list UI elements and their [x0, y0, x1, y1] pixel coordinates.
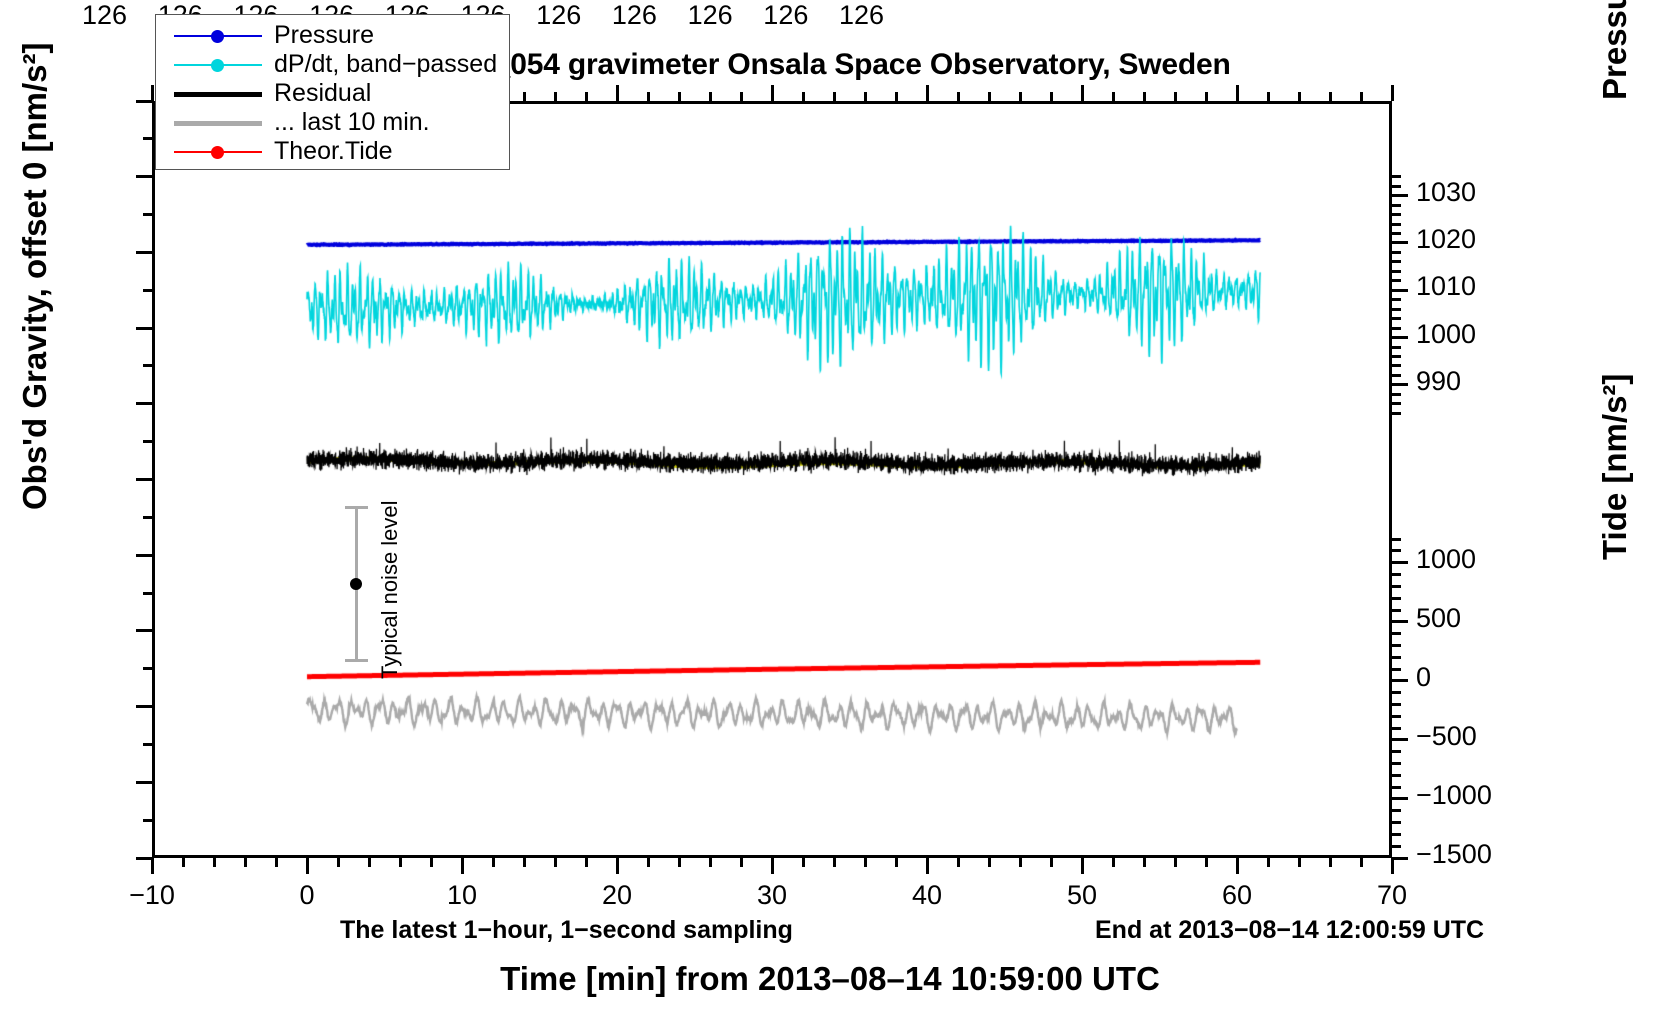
- noise-bar-cap-bottom: [345, 659, 368, 662]
- x-tick: [1329, 858, 1332, 867]
- x-tick-top: [740, 92, 743, 101]
- y-tick: [136, 402, 152, 405]
- y-tick-label: 126: [612, 0, 657, 31]
- y-tick-label: 126: [536, 0, 581, 31]
- x-tick: [1019, 858, 1022, 867]
- x-tick: [1360, 858, 1363, 867]
- tide-tick-label: 500: [1416, 603, 1461, 634]
- pressure-tick: [1392, 374, 1401, 377]
- x-tick: [1112, 858, 1115, 867]
- x-tick: [833, 858, 836, 867]
- tide-tick: [1392, 750, 1401, 753]
- x-tick: [492, 858, 495, 867]
- x-tick: [244, 858, 247, 867]
- x-tick: [585, 858, 588, 867]
- tide-tick: [1392, 561, 1408, 564]
- x-tick: [988, 858, 991, 867]
- y-tick: [136, 781, 152, 784]
- x-tick-label: 60: [1197, 880, 1277, 911]
- y-tick-label: 126: [839, 0, 884, 31]
- pressure-tick: [1392, 270, 1401, 273]
- x-tick-top: [1143, 92, 1146, 101]
- y-tick: [143, 289, 152, 292]
- x-tick-label: 10: [422, 880, 502, 911]
- y-tick: [143, 592, 152, 595]
- y-tick: [143, 440, 152, 443]
- x-tick-top: [554, 92, 557, 101]
- x-tick: [647, 858, 650, 867]
- pressure-tick: [1392, 241, 1408, 244]
- x-tick-top: [1391, 85, 1394, 101]
- legend-item-1[interactable]: dP/dt, band−passed: [156, 50, 509, 79]
- legend-label: Theor.Tide: [274, 137, 393, 166]
- x-tick: [616, 858, 619, 874]
- x-tick: [368, 858, 371, 867]
- y-axis-left-title-wrap: Obs'd Gravity, offset 0 [nm/s²]: [22, 0, 72, 1020]
- legend-line-icon: [174, 92, 262, 97]
- pressure-tick: [1392, 232, 1401, 235]
- tide-tick: [1392, 632, 1401, 635]
- x-tick-top: [709, 92, 712, 101]
- pressure-tick: [1392, 260, 1401, 263]
- x-tick: [337, 858, 340, 867]
- tide-tick: [1392, 585, 1401, 588]
- x-tick-top: [1236, 85, 1239, 101]
- y-tick: [136, 327, 152, 330]
- y-tick: [143, 819, 152, 822]
- pressure-tick-label: 1000: [1416, 319, 1476, 350]
- x-tick-top: [647, 92, 650, 101]
- y-tick: [136, 705, 152, 708]
- x-tick: [182, 858, 185, 867]
- tide-tick: [1392, 845, 1401, 848]
- x-tick-label: 20: [577, 880, 657, 911]
- x-tick-top: [1112, 92, 1115, 101]
- x-tick: [306, 858, 309, 874]
- tide-tick: [1392, 538, 1401, 541]
- typical-noise-bar: [343, 506, 369, 662]
- x-tick-top: [1205, 92, 1208, 101]
- pressure-tick: [1392, 223, 1401, 226]
- pressure-tick: [1392, 308, 1401, 311]
- x-tick-top: [771, 85, 774, 101]
- pressure-tick: [1392, 412, 1401, 415]
- x-tick: [771, 858, 774, 874]
- tide-tick: [1392, 620, 1408, 623]
- x-tick: [1391, 858, 1394, 874]
- x-tick-top: [833, 92, 836, 101]
- x-tick: [740, 858, 743, 867]
- y-tick: [136, 175, 152, 178]
- x-tick-top: [523, 92, 526, 101]
- tide-tick: [1392, 797, 1408, 800]
- pressure-tick: [1392, 364, 1401, 367]
- x-tick-top: [1360, 92, 1363, 101]
- x-tick: [864, 858, 867, 867]
- y-axis-pressure-title: Pressure [hPa]: [1596, 0, 1634, 100]
- x-tick-top: [616, 85, 619, 101]
- x-tick-top: [1329, 92, 1332, 101]
- x-tick-label: −10: [112, 880, 192, 911]
- y-tick: [143, 743, 152, 746]
- pressure-tick: [1392, 383, 1408, 386]
- y-tick-label: 126: [82, 0, 127, 31]
- tide-tick: [1392, 656, 1401, 659]
- x-tick-top: [926, 85, 929, 101]
- x-tick-top: [1019, 92, 1022, 101]
- pressure-tick: [1392, 251, 1401, 254]
- tide-tick: [1392, 573, 1401, 576]
- pressure-tick-label: 1030: [1416, 177, 1476, 208]
- x-tick-top: [1081, 85, 1084, 101]
- x-tick-top: [988, 92, 991, 101]
- x-tick: [957, 858, 960, 867]
- legend-item-3[interactable]: ... last 10 min.: [156, 108, 509, 137]
- tide-tick: [1392, 738, 1408, 741]
- x-tick-top: [895, 92, 898, 101]
- x-tick: [1174, 858, 1177, 867]
- x-tick: [430, 858, 433, 867]
- pressure-tick-label: 990: [1416, 366, 1461, 397]
- x-tick: [1081, 858, 1084, 874]
- pressure-tick: [1392, 346, 1401, 349]
- x-axis-title: Time [min] from 2013–08–14 10:59:00 UTC: [0, 960, 1660, 998]
- plot-canvas-wrapper: [155, 104, 1389, 855]
- x-tick-label: 40: [887, 880, 967, 911]
- x-tick: [1050, 858, 1053, 867]
- y-tick-label: 126: [688, 0, 733, 31]
- pressure-tick: [1392, 213, 1401, 216]
- tide-tick: [1392, 762, 1401, 765]
- y-axis-tide-title: Tide [nm/s²]: [1596, 374, 1634, 560]
- legend-label: Residual: [274, 79, 371, 108]
- y-tick: [136, 629, 152, 632]
- x-tick: [802, 858, 805, 867]
- pressure-tick-label: 1020: [1416, 224, 1476, 255]
- legend-marker-icon: [211, 146, 224, 159]
- x-tick-top: [1267, 92, 1270, 101]
- x-tick: [895, 858, 898, 867]
- pressure-tick: [1392, 355, 1401, 358]
- tide-tick: [1392, 715, 1401, 718]
- x-tick: [1205, 858, 1208, 867]
- legend-line-icon: [174, 121, 262, 126]
- legend-item-0[interactable]: Pressure: [156, 21, 509, 50]
- x-tick: [275, 858, 278, 867]
- tide-tick: [1392, 644, 1401, 647]
- legend-label: Pressure: [274, 21, 374, 50]
- x-tick: [1267, 858, 1270, 867]
- pressure-tick: [1392, 185, 1401, 188]
- legend-swatch-3: [174, 113, 262, 133]
- footer-end-time: End at 2013−08−14 12:00:59 UTC: [1095, 916, 1484, 945]
- x-tick: [151, 858, 154, 874]
- tide-tick: [1392, 857, 1408, 860]
- pressure-tick: [1392, 336, 1408, 339]
- y-tick: [143, 667, 152, 670]
- x-tick: [926, 858, 929, 874]
- x-tick-top: [957, 92, 960, 101]
- tide-tick: [1392, 786, 1401, 789]
- tide-tick: [1392, 703, 1401, 706]
- pressure-tick-label: 1010: [1416, 271, 1476, 302]
- x-tick-top: [678, 92, 681, 101]
- x-tick: [1298, 858, 1301, 867]
- tide-tick: [1392, 809, 1401, 812]
- legend-label: dP/dt, band−passed: [274, 50, 497, 79]
- x-tick: [554, 858, 557, 867]
- tide-tick-label: 1000: [1416, 544, 1476, 575]
- tide-tick: [1392, 774, 1401, 777]
- series-canvas: [155, 104, 1389, 855]
- tide-tick: [1392, 549, 1401, 552]
- legend[interactable]: PressuredP/dt, band−passedResidual... la…: [155, 14, 510, 170]
- y-tick: [136, 478, 152, 481]
- tide-tick: [1392, 609, 1401, 612]
- x-tick: [678, 858, 681, 867]
- x-tick-label: 70: [1352, 880, 1432, 911]
- tide-tick: [1392, 727, 1401, 730]
- pressure-tick: [1392, 289, 1408, 292]
- y-tick: [143, 516, 152, 519]
- y-tick: [136, 554, 152, 557]
- x-tick-label: 50: [1042, 880, 1122, 911]
- x-tick-label: 0: [267, 880, 347, 911]
- x-tick-top: [585, 92, 588, 101]
- x-tick-top: [1298, 92, 1301, 101]
- legend-item-2[interactable]: Residual: [156, 79, 509, 108]
- y-axis-left-title: Obs'd Gravity, offset 0 [nm/s²]: [16, 43, 54, 510]
- x-tick: [399, 858, 402, 867]
- tide-tick: [1392, 691, 1401, 694]
- x-tick: [1143, 858, 1146, 867]
- pressure-tick: [1392, 327, 1401, 330]
- noise-bar-center-dot: [350, 578, 362, 590]
- y-tick: [136, 251, 152, 254]
- legend-item-4[interactable]: Theor.Tide: [156, 137, 509, 166]
- x-tick-label: 30: [732, 880, 812, 911]
- y-tick: [143, 213, 152, 216]
- x-tick: [461, 858, 464, 874]
- x-tick: [213, 858, 216, 867]
- tide-tick-label: −1500: [1416, 839, 1492, 870]
- legend-swatch-0: [174, 26, 262, 46]
- pressure-tick: [1392, 298, 1401, 301]
- tide-tick: [1392, 679, 1408, 682]
- y-tick: [143, 364, 152, 367]
- pressure-tick: [1392, 175, 1401, 178]
- legend-marker-icon: [211, 59, 224, 72]
- x-tick-top: [1050, 92, 1053, 101]
- legend-swatch-2: [174, 84, 262, 104]
- x-tick-top: [151, 85, 154, 101]
- x-tick: [709, 858, 712, 867]
- y-tick-label: 126: [763, 0, 808, 31]
- x-tick-top: [802, 92, 805, 101]
- tide-tick-label: 0: [1416, 662, 1431, 693]
- noise-bar-cap-top: [345, 506, 368, 509]
- x-tick: [523, 858, 526, 867]
- y-tick: [143, 137, 152, 140]
- pressure-tick: [1392, 393, 1401, 396]
- x-tick: [1236, 858, 1239, 874]
- legend-swatch-1: [174, 55, 262, 75]
- x-tick-top: [1174, 92, 1177, 101]
- tide-tick: [1392, 668, 1401, 671]
- tide-tick: [1392, 597, 1401, 600]
- pressure-tick: [1392, 402, 1401, 405]
- tide-tick: [1392, 821, 1401, 824]
- legend-label: ... last 10 min.: [274, 108, 430, 137]
- plot-area: Typical noise level The latest 1−hour, 1…: [152, 101, 1392, 858]
- tide-tick-label: −500: [1416, 721, 1477, 752]
- pressure-tick: [1392, 204, 1401, 207]
- tide-tick: [1392, 833, 1401, 836]
- noise-level-label: Typical noise level: [377, 500, 403, 679]
- pressure-tick: [1392, 279, 1401, 282]
- legend-marker-icon: [211, 30, 224, 43]
- tide-tick-label: −1000: [1416, 780, 1492, 811]
- footer-sampling-note: The latest 1−hour, 1−second sampling: [340, 916, 793, 945]
- pressure-tick: [1392, 194, 1408, 197]
- legend-swatch-4: [174, 142, 262, 162]
- pressure-tick: [1392, 317, 1401, 320]
- x-tick-top: [864, 92, 867, 101]
